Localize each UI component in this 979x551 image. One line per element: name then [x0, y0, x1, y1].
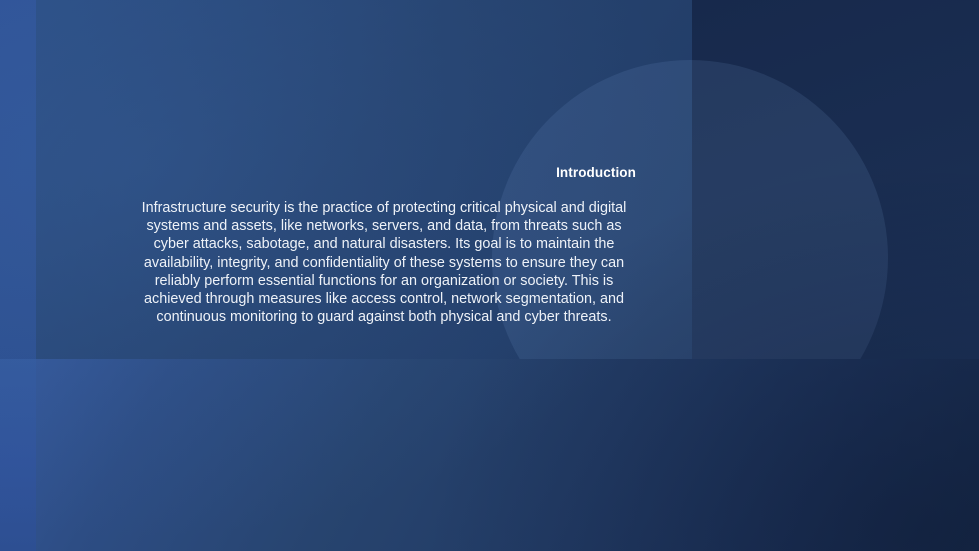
presentation-slide: Introduction Infrastructure security is …	[0, 0, 979, 551]
slide-heading: Introduction	[132, 164, 636, 182]
slide-content: Introduction Infrastructure security is …	[0, 0, 979, 551]
slide-body-paragraph: Infrastructure security is the practice …	[130, 199, 638, 326]
